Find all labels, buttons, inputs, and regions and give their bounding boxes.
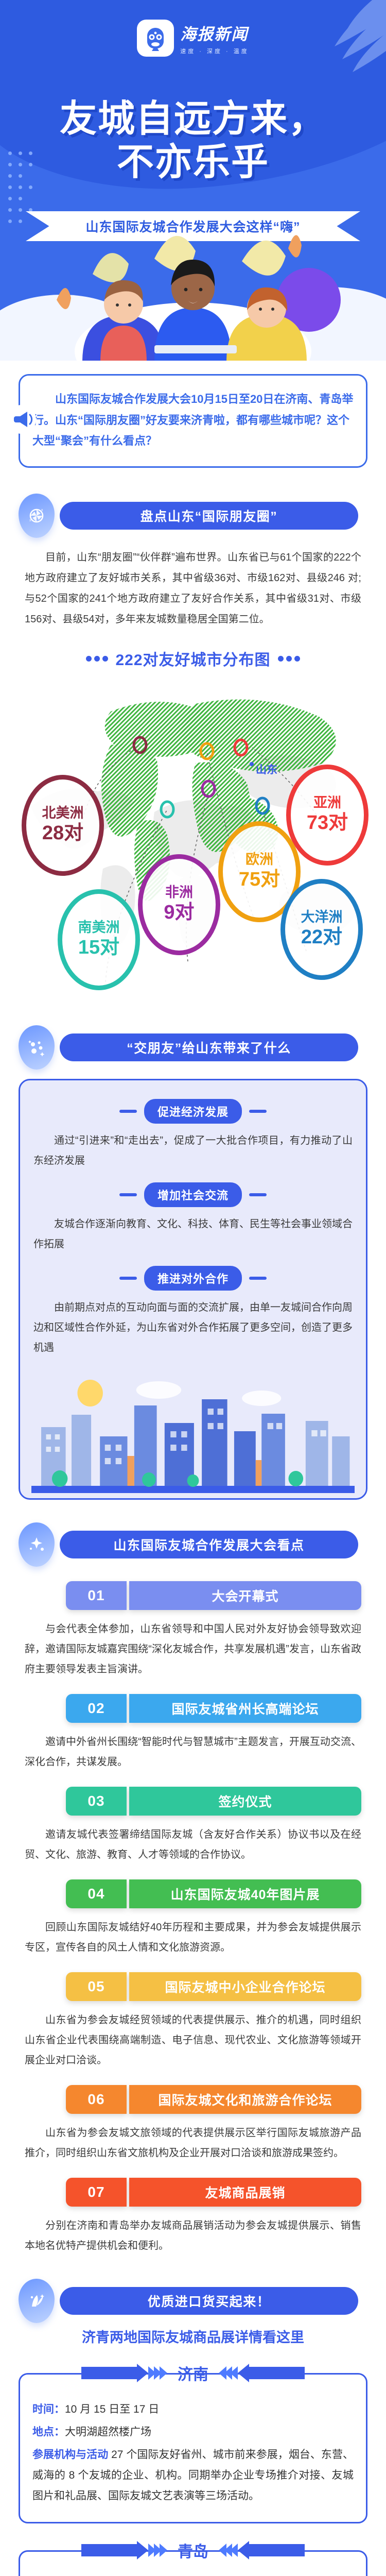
section-heading-expo: 优质进口货买起来！ [0, 2279, 386, 2323]
highlight-item-07: 07 友城商品展销 分别在济南和青岛举办友城商品展销活动为参会友城提供展示、销售… [0, 2178, 386, 2256]
highlight-number-04: 04 [66, 1879, 127, 1908]
brand-logo: 海报新闻 速度 · 深度 · 温度 [0, 20, 386, 57]
highlight-title-03: 签约仪式 [129, 1787, 361, 1816]
arrow-right-decoration [219, 2541, 305, 2560]
chart-bubble-africa: 非洲 9对 [138, 854, 220, 955]
arrow-left-decoration [81, 2364, 167, 2382]
highlight-head-06: 06 国际友城文化和旅游合作论坛 [66, 2085, 361, 2114]
arrow-right-decoration [219, 2364, 305, 2382]
highlight-item-02: 02 国际友城省州长高端论坛 邀请中外省州长围绕“智能时代与智慧城市”主题发言，… [0, 1694, 386, 1772]
hero-illustration [0, 212, 386, 361]
highlight-text-05: 山东省为参会友城经贸领域的代表提供展示、推介的机遇，同时组织山东省企业代表围绕高… [25, 2010, 361, 2071]
highlight-text-01: 与会代表全体参加，山东省领导和中国人民对外友好协会领导致欢迎辞，邀请国际友城嘉宾… [25, 1619, 361, 1680]
tag-dash-right [249, 1110, 267, 1113]
city-row-label: 参展机构与活动 [32, 2449, 108, 2461]
highlight-head-01: 01 大会开幕式 [66, 1581, 361, 1610]
highlight-number-06: 06 [66, 2085, 127, 2114]
tag-dash-left [119, 1110, 137, 1113]
city-row-label: 时间： [32, 2403, 65, 2415]
section1-paragraph: 目前，山东“朋友圈”“伙伴群”遍布世界。山东省已与61个国家的222个地方政府建… [25, 547, 361, 630]
section2-title: “交朋友”给山东带来了什么 [127, 1038, 291, 1057]
highlight-text-04: 回顾山东国际友城结好40年历程和主要成果，并为参会友城提供展示专区，宣传各自的风… [25, 1918, 361, 1958]
hero-banner: 海报新闻 速度 · 深度 · 温度 友城自远方来， 不亦乐乎 山东国际友城合作发… [0, 0, 386, 361]
highlight-item-06: 06 国际友城文化和旅游合作论坛 山东省为参会友城文旅领域的代表提供展示区举行国… [0, 2085, 386, 2163]
cityscape-illustration [31, 1369, 355, 1493]
sparkle-bubble-icon [19, 1025, 55, 1070]
highlight-title-06: 国际友城文化和旅游合作论坛 [129, 2085, 361, 2114]
section2-title-pill: “交朋友”给山东带来了什么 [60, 1033, 358, 1061]
tag-dash-right [249, 1193, 267, 1196]
chart-title-row: 222对友好城市分布图 [0, 647, 386, 670]
highlight-head-07: 07 友城商品展销 [66, 2178, 361, 2207]
seal-mascot-icon [137, 20, 174, 57]
benefit-tag-1: 促进经济发展 [144, 1099, 242, 1124]
camera-aperture-icon: x x [19, 494, 55, 538]
section4-title: 优质进口货买起来！ [148, 2292, 271, 2310]
brand-name: 海报新闻 [180, 21, 248, 44]
section1-title: 盘点山东“国际朋友圈” [141, 506, 278, 525]
page-title: 友城自远方来， 不亦乐乎 [0, 98, 386, 184]
bubble-label-south-america: 南美洲 [78, 920, 120, 936]
bubble-label-europe: 欧洲 [245, 852, 273, 868]
highlight-text-03: 邀请友城代表签署缔结国际友城（含友好合作关系）协议书以及在经贸、文化、旅游、教育… [25, 1825, 361, 1865]
benefits-card: 促进经济发展 通过“引进来”和“走出去”，促成了一大批合作项目，有力推动了山东经… [19, 1079, 367, 1500]
highlight-text-07: 分别在济南和青岛举办友城商品展销活动为参会友城提供展示、销售本地名优特产提供机会… [25, 2216, 361, 2256]
benefit-tag-row-2: 增加社会交流 [31, 1182, 355, 1207]
world-map-chart: 山东 北美洲 28对 亚洲 73对 欧洲 75对 非洲 9对 南美洲 15对 大… [0, 673, 386, 1003]
highlight-head-05: 05 国际友城中小企业合作论坛 [66, 1972, 361, 2001]
chart-bubble-north-america: 北美洲 28对 [22, 775, 104, 876]
highlight-title-02: 国际友城省州长高端论坛 [129, 1694, 361, 1723]
intro-section: 山东国际友城合作发展大会10月15日至20日在济南、青岛举行。山东“国际朋友圈”… [0, 361, 386, 471]
section1-title-pill: 盘点山东“国际朋友圈” [60, 502, 358, 530]
benefit-text-2: 友城合作逐渐向教育、文化、科技、体育、民生等社会事业领域合作拓展 [33, 1214, 353, 1255]
chart-bubble-south-america: 南美洲 15对 [58, 889, 140, 990]
city-name-qingdao: 青岛 [173, 2539, 213, 2562]
benefit-text-3: 由前期点对点的互动向面与面的交流扩展，由单一友城间合作向周边和区域性合作外延，为… [33, 1298, 353, 1358]
bubble-label-africa: 非洲 [165, 885, 193, 901]
bubble-label-asia: 亚洲 [313, 795, 341, 811]
arrow-left-decoration [81, 2541, 167, 2560]
dots-decoration-left [86, 656, 108, 662]
city-banner-qingdao: 青岛 [19, 2539, 367, 2562]
shopping-sparkle-icon [19, 2279, 55, 2323]
benefit-tag-2: 增加社会交流 [144, 1182, 242, 1207]
city-row-label: 地点： [32, 2426, 65, 2438]
benefit-tag-3: 推进对外合作 [144, 1266, 242, 1291]
city-row-value: 10 月 15 日至 17 日 [65, 2403, 159, 2415]
city-row-jinan-exhibitors: 参展机构与活动 27 个国际友好省州、城市前来参展，烟台、东营、威海的 8 个友… [32, 2445, 354, 2506]
highlight-item-01: 01 大会开幕式 与会代表全体参加，山东省领导和中国人民对外友好协会领导致欢迎辞… [0, 1581, 386, 1680]
highlight-item-03: 03 签约仪式 邀请友城代表签署缔结国际友城（含友好合作关系）协议书以及在经贸、… [0, 1787, 386, 1865]
highlight-title-01: 大会开幕式 [129, 1581, 361, 1610]
bubble-value-africa: 9对 [164, 902, 194, 924]
highlight-title-07: 友城商品展销 [129, 2178, 361, 2207]
city-card-jinan: 时间：10 月 15 日至 17 日 地点：大明湖超然楼广场 参展机构与活动 2… [19, 2373, 367, 2523]
bubble-label-north-america: 北美洲 [42, 806, 84, 821]
highlight-item-05: 05 国际友城中小企业合作论坛 山东省为参会友城经贸领域的代表提供展示、推介的机… [0, 1972, 386, 2071]
bubble-value-europe: 75对 [239, 869, 280, 891]
benefit-text-1: 通过“引进来”和“走出去”，促成了一大批合作项目，有力推动了山东经济发展 [33, 1131, 353, 1171]
intro-paragraph: 山东国际友城合作发展大会10月15日至20日在济南、青岛举行。山东“国际朋友圈”… [32, 389, 354, 452]
bubble-value-asia: 73对 [307, 812, 348, 835]
intro-card: 山东国际友城合作发展大会10月15日至20日在济南、青岛举行。山东“国际朋友圈”… [19, 374, 367, 468]
highlight-number-02: 02 [66, 1694, 127, 1723]
infographic-page: 海报新闻 速度 · 深度 · 温度 友城自远方来， 不亦乐乎 山东国际友城合作发… [0, 0, 386, 2576]
highlight-number-01: 01 [66, 1581, 127, 1610]
city-row-jinan-place: 地点：大明湖超然楼广场 [32, 2422, 354, 2443]
chart-title: 222对友好城市分布图 [115, 647, 270, 670]
chart-bubble-asia: 亚洲 73对 [286, 765, 369, 866]
highlight-item-04: 04 山东国际友城40年图片展 回顾山东国际友城结好40年历程和主要成果，并为参… [0, 1879, 386, 1958]
megaphone-icon [7, 404, 37, 434]
expo-city-qingdao: 青岛 时间：10 月 17 日至 20 日 地点：李沧区乐客城广场 参展机构与活… [19, 2539, 367, 2576]
highlight-text-06: 山东省为参会友城文旅领域的代表提供展示区举行国际友城旅游产品推介，同时组织山东省… [25, 2123, 361, 2163]
tag-dash-left [119, 1277, 137, 1280]
section-heading-friend-circle: x x 盘点山东“国际朋友圈” [0, 494, 386, 538]
bubble-value-oceania: 22对 [301, 926, 342, 949]
city-name-jinan: 济南 [173, 2362, 213, 2384]
section3-title-pill: 山东国际友城合作发展大会看点 [60, 1531, 358, 1558]
hero-title-line1: 友城自远方来， [60, 98, 326, 140]
city-banner-jinan: 济南 [19, 2362, 367, 2384]
chart-bubble-oceania: 大洋洲 22对 [280, 879, 363, 980]
bubble-value-south-america: 15对 [78, 937, 119, 959]
highlight-title-04: 山东国际友城40年图片展 [129, 1879, 361, 1908]
highlight-number-03: 03 [66, 1787, 127, 1816]
svg-text:x: x [29, 519, 31, 522]
dots-decoration-right [278, 656, 300, 662]
highlight-text-02: 邀请中外省州长围绕“智能时代与智慧城市”主题发言，开展互动交流、深化合作，共谋发… [25, 1732, 361, 1772]
shandong-map-label: 山东 [256, 761, 277, 777]
section4-subtitle: 济青两地国际友城商品展详情看这里 [0, 2326, 386, 2346]
section3-title: 山东国际友城合作发展大会看点 [113, 1535, 304, 1554]
highlight-number-07: 07 [66, 2178, 127, 2207]
tag-dash-right [249, 1277, 267, 1280]
benefit-tag-row-3: 推进对外合作 [31, 1266, 355, 1291]
bubble-label-oceania: 大洋洲 [301, 910, 343, 925]
city-row-value: 大明湖超然楼广场 [65, 2426, 151, 2438]
tag-dash-left [119, 1193, 137, 1196]
section4-title-pill: 优质进口货买起来！ [60, 2287, 358, 2315]
brand-slogan: 速度 · 深度 · 温度 [180, 47, 249, 55]
highlight-head-03: 03 签约仪式 [66, 1787, 361, 1816]
section-heading-benefits: “交朋友”给山东带来了什么 [0, 1025, 386, 1070]
benefit-tag-row-1: 促进经济发展 [31, 1099, 355, 1124]
highlight-number-05: 05 [66, 1972, 127, 2001]
highlight-head-02: 02 国际友城省州长高端论坛 [66, 1694, 361, 1723]
city-row-jinan-time: 时间：10 月 15 日至 17 日 [32, 2399, 354, 2420]
section-heading-highlights: 山东国际友城合作发展大会看点 [0, 1522, 386, 1567]
highlight-head-04: 04 山东国际友城40年图片展 [66, 1879, 361, 1908]
sparkle-bubble-icon [19, 1522, 55, 1567]
bubble-value-north-america: 28对 [42, 822, 83, 845]
hero-title-line2: 不亦乐乎 [0, 141, 386, 184]
highlight-title-05: 国际友城中小企业合作论坛 [129, 1972, 361, 2001]
expo-city-jinan: 济南 时间：10 月 15 日至 17 日 地点：大明湖超然楼广场 参展机构与活… [19, 2362, 367, 2523]
svg-text:x: x [41, 509, 43, 512]
